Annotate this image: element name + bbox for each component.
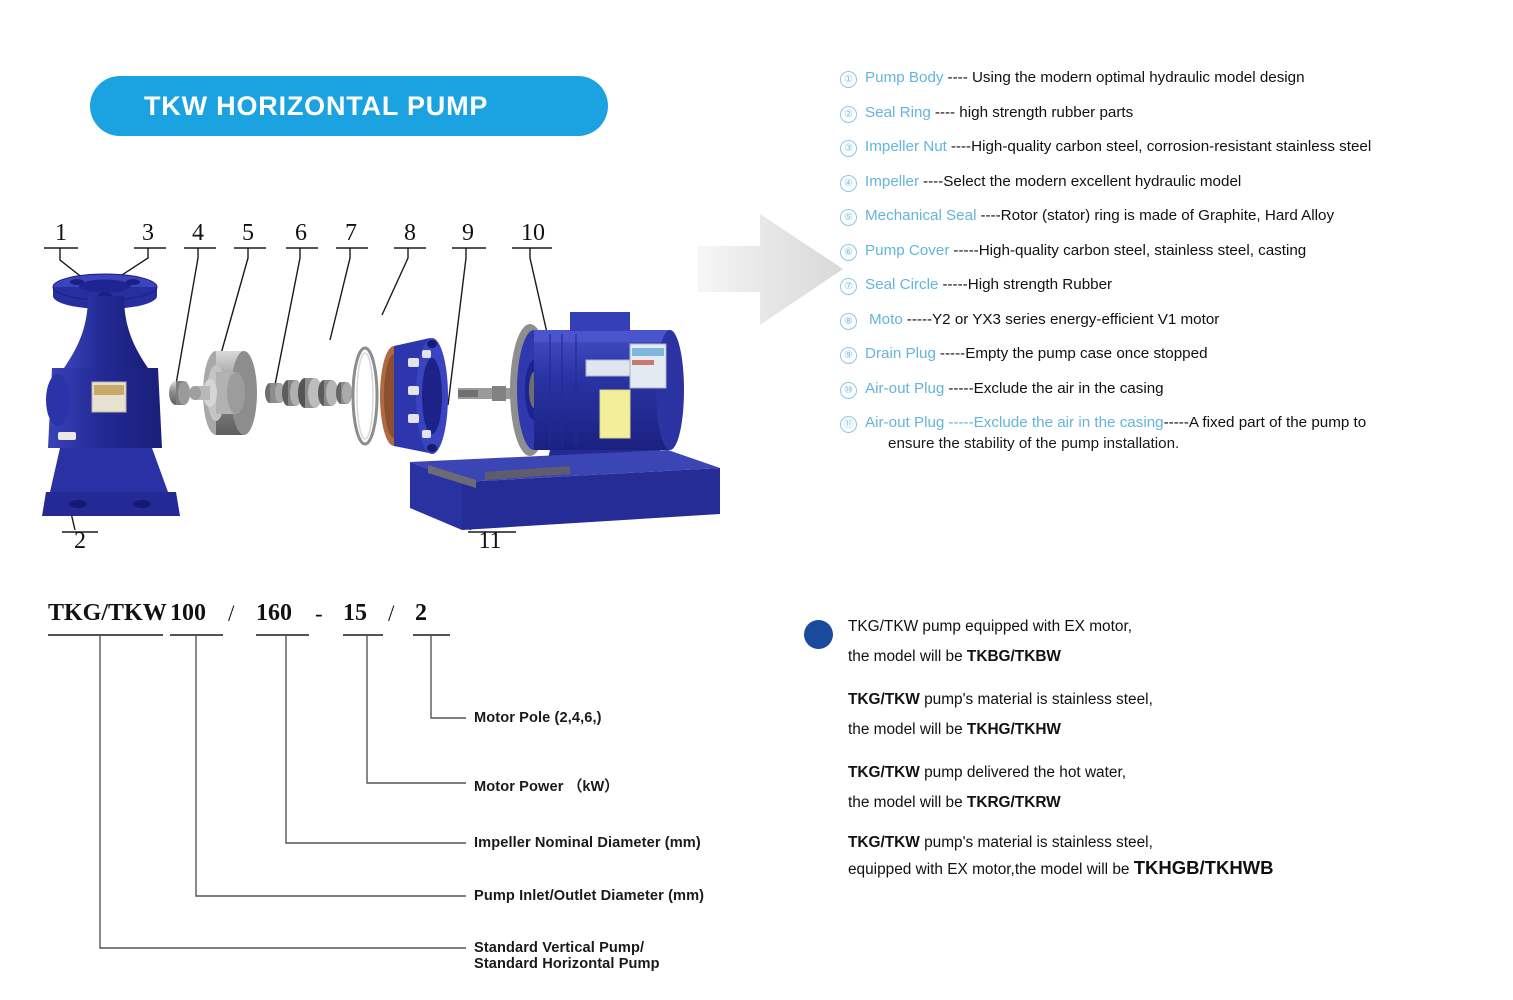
pump-type-line-2: Standard Horizontal Pump bbox=[474, 956, 660, 972]
breakdown-label-motor-power: Motor Power （kW） bbox=[474, 775, 619, 796]
callout-number-3: 3 bbox=[142, 220, 154, 246]
note-line: the model will be TKRG/TKRW bbox=[848, 788, 1400, 818]
note-model-code: TKG/TKW bbox=[848, 764, 920, 781]
callout-number-11: 11 bbox=[478, 528, 501, 554]
impeller-part bbox=[189, 351, 257, 435]
legend-number-icon: ④ bbox=[840, 175, 857, 192]
legend-number-icon: ⑩ bbox=[840, 382, 857, 399]
elbow-leaders bbox=[100, 635, 466, 948]
pump-body-part bbox=[42, 274, 180, 516]
legend-number-icon: ③ bbox=[840, 140, 857, 157]
legend-part-desc: -----Y2 or YX3 series energy-efficient V… bbox=[907, 310, 1220, 329]
legend-part-name: Moto bbox=[869, 310, 903, 329]
motor-part bbox=[458, 312, 684, 468]
legend-item-3: ③ Impeller Nut ----High-quality carbon s… bbox=[840, 137, 1500, 157]
legend-part-name: Pump Body bbox=[865, 68, 944, 87]
legend-item-1: ① Pump Body ---- Using the modern optima… bbox=[840, 68, 1500, 88]
note-text: the model will be bbox=[848, 721, 967, 738]
legend-part-desc: -----High strength Rubber bbox=[942, 275, 1112, 294]
pump-exploded-view-diagram: 1 3 4 5 6 7 8 9 10 2 11 bbox=[30, 200, 720, 580]
legend-part-name: Seal Ring bbox=[865, 103, 931, 122]
legend-number-icon: ⑤ bbox=[840, 209, 857, 226]
note-model-code: TKBG/TKBW bbox=[967, 648, 1061, 665]
bullet-point-icon bbox=[804, 620, 833, 649]
breakdown-label-inlet-outlet-diameter: Pump Inlet/Outlet Diameter (mm) bbox=[474, 888, 704, 904]
impeller-nut-part bbox=[169, 381, 190, 405]
legend-item-10: ⑩ Air-out Plug -----Exclude the air in t… bbox=[840, 379, 1500, 399]
legend-part-desc-line2: ensure the stability of the pump install… bbox=[888, 434, 1366, 453]
legend-item-11: ⑪ Air-out Plug-----Exclude the air in th… bbox=[840, 413, 1500, 453]
callout-number-2: 2 bbox=[74, 528, 86, 554]
page-title-banner: TKW HORIZONTAL PUMP bbox=[90, 76, 608, 136]
note-text: pump delivered the hot water, bbox=[920, 764, 1126, 781]
note-text: pump's material is stainless steel, bbox=[920, 834, 1153, 851]
legend-part-desc: ----Select the modern excellent hydrauli… bbox=[923, 172, 1241, 191]
seal-circle-part bbox=[353, 348, 377, 444]
note-line: TKG/TKW pump equipped with EX motor, bbox=[848, 612, 1400, 642]
callout-number-6: 6 bbox=[295, 220, 307, 246]
legend-part-desc: -----High-quality carbon steel, stainles… bbox=[953, 241, 1306, 260]
breakdown-leader-lines bbox=[30, 590, 730, 970]
legend-number-icon: ① bbox=[840, 71, 857, 88]
note-block-stainless-ex: TKG/TKW pump's material is stainless ste… bbox=[848, 831, 1400, 882]
legend-number-icon: ② bbox=[840, 106, 857, 123]
legend-part-name: Impeller bbox=[865, 172, 919, 191]
note-line: TKG/TKW pump delivered the hot water, bbox=[848, 758, 1400, 788]
note-line: the model will be TKBG/TKBW bbox=[848, 642, 1400, 672]
legend-part-name: Seal Circle bbox=[865, 275, 938, 294]
note-model-code: TKG/TKW bbox=[848, 691, 920, 708]
callout-number-4: 4 bbox=[192, 220, 204, 246]
legend-item-4: ④ Impeller ----Select the modern excelle… bbox=[840, 172, 1500, 192]
flow-arrow-icon bbox=[698, 212, 843, 327]
note-model-code: TKHG/TKHW bbox=[967, 721, 1061, 738]
note-line: TKG/TKW pump's material is stainless ste… bbox=[848, 685, 1400, 715]
breakdown-label-motor-pole: Motor Pole (2,4,6,) bbox=[474, 710, 602, 726]
legend-part-name: Air-out Plug bbox=[865, 379, 944, 398]
note-model-code: TKRG/TKRW bbox=[967, 794, 1061, 811]
note-text: the model will be bbox=[848, 794, 967, 811]
legend-part-name: Drain Plug bbox=[865, 344, 936, 363]
legend-part-desc: -----Empty the pump case once stopped bbox=[940, 344, 1208, 363]
legend-part-name: Air-out Plug bbox=[865, 414, 944, 431]
legend-part-desc: -----Exclude the air in the casing bbox=[948, 379, 1163, 398]
note-text: equipped with EX motor,the model will be bbox=[848, 861, 1134, 878]
legend-part-desc: ----Rotor (stator) ring is made of Graph… bbox=[980, 206, 1334, 225]
callout-number-8: 8 bbox=[404, 220, 416, 246]
pump-cover-part bbox=[380, 338, 448, 454]
note-text: the model will be bbox=[848, 648, 967, 665]
legend-part-desc: ----High-quality carbon steel, corrosion… bbox=[951, 137, 1371, 156]
legend-item-5: ⑤ Mechanical Seal ----Rotor (stator) rin… bbox=[840, 206, 1500, 226]
base-plate-part bbox=[410, 450, 720, 530]
legend-part-name: Pump Cover bbox=[865, 241, 949, 260]
model-code-breakdown-diagram: TKG/TKW 100 / 160 - 15 / 2 Motor Pole (2… bbox=[30, 590, 730, 970]
legend-item-6: ⑥ Pump Cover -----High-quality carbon st… bbox=[840, 241, 1500, 261]
legend-number-icon: ⑧ bbox=[840, 313, 857, 330]
breakdown-label-impeller-diameter: Impeller Nominal Diameter (mm) bbox=[474, 835, 701, 851]
page-title: TKW HORIZONTAL PUMP bbox=[144, 91, 488, 122]
mechanical-seal-part bbox=[265, 378, 352, 408]
note-text: pump's material is stainless steel, bbox=[920, 691, 1153, 708]
legend-part-name: Impeller Nut bbox=[865, 137, 947, 156]
legend-item-9: ⑨ Drain Plug -----Empty the pump case on… bbox=[840, 344, 1500, 364]
legend-part-name: Mechanical Seal bbox=[865, 206, 976, 225]
note-model-code: TKG/TKW bbox=[848, 834, 920, 851]
callout-number-5: 5 bbox=[242, 220, 254, 246]
pump-type-line-1: Standard Vertical Pump/ bbox=[474, 940, 660, 956]
note-block-stainless: TKG/TKW pump's material is stainless ste… bbox=[848, 685, 1400, 745]
note-line: the model will be TKHG/TKHW bbox=[848, 715, 1400, 745]
legend-number-icon: ⑦ bbox=[840, 278, 857, 295]
parts-legend-list: ① Pump Body ---- Using the modern optima… bbox=[840, 68, 1500, 468]
legend-item-7: ⑦ Seal Circle -----High strength Rubber bbox=[840, 275, 1500, 295]
callout-number-10: 10 bbox=[521, 220, 545, 246]
legend-part-desc: -----A fixed part of the pump to bbox=[1164, 414, 1367, 431]
note-block-ex-motor: TKG/TKW pump equipped with EX motor, the… bbox=[848, 612, 1400, 672]
note-block-hot-water: TKG/TKW pump delivered the hot water, th… bbox=[848, 758, 1400, 818]
callout-number-1: 1 bbox=[55, 220, 67, 246]
legend-number-icon: ⑥ bbox=[840, 244, 857, 261]
legend-part-desc: ---- high strength rubber parts bbox=[935, 103, 1133, 122]
legend-item-2: ② Seal Ring ---- high strength rubber pa… bbox=[840, 103, 1500, 123]
note-model-code: TKHGB/TKHWB bbox=[1134, 857, 1274, 878]
legend-number-icon: ⑪ bbox=[840, 416, 857, 433]
note-line: TKG/TKW pump's material is stainless ste… bbox=[848, 831, 1400, 854]
model-variant-notes: TKG/TKW pump equipped with EX motor, the… bbox=[800, 612, 1400, 895]
note-line: equipped with EX motor,the model will be… bbox=[848, 854, 1400, 882]
note-text: TKG/TKW pump equipped with EX motor, bbox=[848, 618, 1132, 635]
callout-number-9: 9 bbox=[462, 220, 474, 246]
legend-part-desc-blue: -----Exclude the air in the casing bbox=[948, 414, 1163, 431]
legend-item-8: ⑧ Moto -----Y2 or YX3 series energy-effi… bbox=[840, 310, 1500, 330]
legend-number-icon: ⑨ bbox=[840, 347, 857, 364]
callout-number-7: 7 bbox=[345, 220, 357, 246]
breakdown-label-pump-type: Standard Vertical Pump/ Standard Horizon… bbox=[474, 940, 660, 972]
legend-part-desc: ---- Using the modern optimal hydraulic … bbox=[948, 68, 1305, 87]
